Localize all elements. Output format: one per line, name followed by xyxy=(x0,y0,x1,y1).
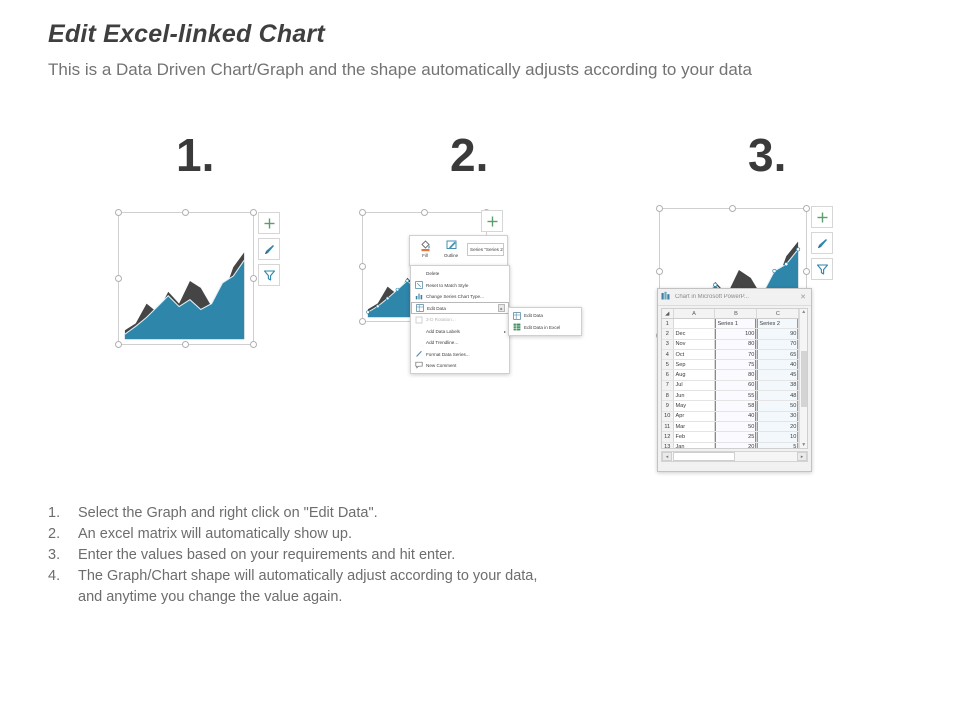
excel-corner-cell[interactable]: ◢ xyxy=(662,309,673,319)
excel-vertical-scrollbar[interactable]: ▲ ▼ xyxy=(799,309,807,448)
excel-cell-c[interactable]: 10 xyxy=(757,432,799,442)
menu-item-label: New Comment xyxy=(426,363,506,368)
table-row[interactable]: 1 Series 1 Series 2 xyxy=(662,319,799,329)
excel-window-title: Chart in Microsoft PowerP... xyxy=(675,294,798,300)
selection-handle-bottom-center[interactable] xyxy=(182,341,189,348)
instruction-text: Select the Graph and right click on "Edi… xyxy=(78,503,378,524)
table-row[interactable]: 7 Jul 60 38 xyxy=(662,380,799,390)
instruction-continuation: and anytime you change the value again. xyxy=(48,587,537,608)
submenu-item-label: Edit Data in Excel xyxy=(524,325,578,330)
excel-cell-b[interactable]: 100 xyxy=(715,329,757,339)
excel-cell-a[interactable]: Aug xyxy=(673,370,715,380)
rotation-icon xyxy=(414,315,423,324)
list-item: 2. An excel matrix will automatically sh… xyxy=(48,524,537,545)
outline-tool[interactable]: Outline xyxy=(439,238,463,259)
instruction-text: Enter the values based on your requireme… xyxy=(78,545,455,566)
series-selector-dropdown[interactable]: Series "Series 2" ▾ xyxy=(467,243,504,256)
menu-item-label: Add Trendline... xyxy=(426,340,506,345)
chart-styles-button[interactable] xyxy=(811,232,833,254)
instruction-text: An excel matrix will automatically show … xyxy=(78,524,352,545)
excel-cell-b[interactable]: 58 xyxy=(715,401,757,411)
chart-action-buttons-step3 xyxy=(811,206,833,280)
menu-item-label: Edit Data xyxy=(427,306,498,311)
step-number-2: 2. xyxy=(450,128,488,182)
chevron-right-icon: ▸ xyxy=(504,329,506,334)
excel-cell-a[interactable]: Apr xyxy=(673,411,715,421)
excel-cell-a[interactable]: Jan xyxy=(673,442,715,449)
excel-cell-c[interactable]: 90 xyxy=(757,329,799,339)
selection-handle-bottom-left[interactable] xyxy=(115,341,122,348)
list-item: 1. Select the Graph and right click on "… xyxy=(48,503,537,524)
table-row[interactable]: 9 May 58 50 xyxy=(662,401,799,411)
series-selector-value: Series "Series 2" xyxy=(470,247,504,252)
excel-cell-a[interactable]: Mar xyxy=(673,421,715,431)
excel-cell-a[interactable]: Oct xyxy=(673,349,715,359)
excel-cell-c[interactable]: 38 xyxy=(757,380,799,390)
excel-cell-c[interactable]: 70 xyxy=(757,339,799,349)
table-row[interactable]: 11 Mar 50 20 xyxy=(662,421,799,431)
excel-cell-c[interactable]: 30 xyxy=(757,411,799,421)
instruction-number: 1. xyxy=(48,503,78,524)
edit-data-icon xyxy=(512,311,521,320)
step-number-1: 1. xyxy=(176,128,214,182)
list-item: 4. The Graph/Chart shape will automatica… xyxy=(48,566,537,587)
excel-cell-a[interactable]: Jun xyxy=(673,391,715,401)
table-row[interactable]: 8 Jun 55 48 xyxy=(662,391,799,401)
table-row[interactable]: 6 Aug 80 45 xyxy=(662,370,799,380)
excel-cell-a[interactable] xyxy=(673,319,715,329)
excel-cell-c[interactable]: 40 xyxy=(757,360,799,370)
menu-item-label: 3-D Rotation... xyxy=(426,317,506,322)
chart-type-icon xyxy=(414,292,423,301)
excel-col-header-c[interactable]: C xyxy=(757,309,799,319)
excel-row-header[interactable]: 4 xyxy=(662,349,673,359)
chart-elements-button[interactable] xyxy=(811,206,833,228)
menu-item-delete[interactable]: Delete xyxy=(411,268,509,279)
selection-handle-bottom-left[interactable] xyxy=(359,318,366,325)
scroll-left-icon[interactable]: ◂ xyxy=(662,452,672,461)
excel-app-icon xyxy=(661,288,671,306)
menu-item-label: Change Series Chart Type... xyxy=(426,294,506,299)
menu-item-add-data-labels[interactable]: Add Data Labels ▸ xyxy=(411,326,509,337)
selection-handle-middle-left[interactable] xyxy=(656,268,663,275)
menu-item-format-data-series[interactable]: Format Data Series... xyxy=(411,348,509,359)
table-row[interactable]: 4 Oct 70 65 xyxy=(662,349,799,359)
plus-icon xyxy=(486,215,499,228)
excel-cell-b[interactable]: 55 xyxy=(715,391,757,401)
scrollbar-thumb[interactable] xyxy=(673,452,735,461)
table-row[interactable]: 13 Jan 20 5 xyxy=(662,442,799,449)
excel-cell-a[interactable]: Feb xyxy=(673,432,715,442)
menu-item-reset-to-match-style[interactable]: Reset to Match Style xyxy=(411,279,509,290)
excel-cell-b[interactable]: 70 xyxy=(715,349,757,359)
menu-item-add-trendline[interactable]: Add Trendline... xyxy=(411,337,509,348)
excel-cell-a[interactable]: Sep xyxy=(673,360,715,370)
chart-elements-button[interactable] xyxy=(258,212,280,234)
chart-filters-button[interactable] xyxy=(258,264,280,286)
menu-item-label: Reset to Match Style xyxy=(426,283,506,288)
chart-filters-button[interactable] xyxy=(811,258,833,280)
selection-handle-middle-right[interactable] xyxy=(250,275,257,282)
format-icon xyxy=(414,350,423,359)
none-icon xyxy=(414,269,423,278)
scroll-down-icon[interactable]: ▼ xyxy=(801,442,806,448)
excel-cell-b[interactable]: Series 1 xyxy=(715,319,757,329)
submenu-item-edit-data-in-excel[interactable]: Edit Data in Excel xyxy=(509,321,581,332)
excel-row-header[interactable]: 11 xyxy=(662,421,673,431)
selection-handle-top-left[interactable] xyxy=(656,205,663,212)
chevron-right-icon: ▸ xyxy=(498,304,505,312)
area-chart-step1 xyxy=(119,213,253,344)
excel-grid-container[interactable]: ◢ A B C 1 Series 1 Series 2 2 Dec 100 9 xyxy=(661,308,808,449)
outline-pen-icon xyxy=(439,238,463,253)
menu-item-label: Delete xyxy=(426,271,506,276)
comment-icon xyxy=(414,361,423,370)
selection-handle-top-right[interactable] xyxy=(250,209,257,216)
excel-row-header[interactable]: 1 xyxy=(662,319,673,329)
fill-tool-label: Fill xyxy=(413,253,437,259)
excel-titlebar[interactable]: Chart in Microsoft PowerP... ✕ xyxy=(658,289,811,306)
selection-handle-top-center[interactable] xyxy=(729,205,736,212)
excel-cell-b[interactable]: 60 xyxy=(715,380,757,390)
excel-datasheet-window[interactable]: Chart in Microsoft PowerP... ✕ ◢ A B C 1… xyxy=(657,288,812,472)
excel-row-header[interactable]: 5 xyxy=(662,360,673,370)
step-number-3: 3. xyxy=(748,128,786,182)
excel-row-header[interactable]: 9 xyxy=(662,401,673,411)
selection-handle-middle-left[interactable] xyxy=(115,275,122,282)
selection-handle-top-left[interactable] xyxy=(115,209,122,216)
excel-data-grid[interactable]: ◢ A B C 1 Series 1 Series 2 2 Dec 100 9 xyxy=(662,309,799,449)
instruction-number: 2. xyxy=(48,524,78,545)
menu-item-label: Add Data Labels xyxy=(426,329,504,334)
excel-row-header[interactable]: 3 xyxy=(662,339,673,349)
plus-icon xyxy=(816,211,829,224)
menu-item-edit-data[interactable]: Edit Data ▸ xyxy=(411,302,509,314)
mini-format-toolbar: Fill Outline Series "Series 2" ▾ xyxy=(409,235,508,266)
excel-cell-c[interactable]: 20 xyxy=(757,421,799,431)
instructions-list: 1. Select the Graph and right click on "… xyxy=(48,503,537,608)
excel-cell-c[interactable]: 48 xyxy=(757,391,799,401)
none-icon xyxy=(414,338,423,347)
funnel-icon xyxy=(263,269,276,282)
submenu-item-edit-data[interactable]: Edit Data xyxy=(509,310,581,321)
fill-bucket-icon xyxy=(413,238,437,253)
table-row[interactable]: 5 Sep 75 40 xyxy=(662,360,799,370)
fill-tool[interactable]: Fill xyxy=(413,238,437,259)
selection-handle-top-center[interactable] xyxy=(182,209,189,216)
selection-handle-top-left[interactable] xyxy=(359,209,366,216)
scroll-up-icon[interactable]: ▲ xyxy=(801,309,806,315)
chart-frame-step1[interactable] xyxy=(118,212,254,345)
instruction-text: The Graph/Chart shape will automatically… xyxy=(78,566,537,587)
menu-item-new-comment[interactable]: New Comment xyxy=(411,360,509,371)
edit-data-icon xyxy=(415,304,424,313)
submenu-item-label: Edit Data xyxy=(524,313,578,318)
excel-cell-b[interactable]: 80 xyxy=(715,339,757,349)
list-item: 3. Enter the values based on your requir… xyxy=(48,545,537,566)
excel-cell-c[interactable]: 50 xyxy=(757,401,799,411)
excel-cell-a[interactable]: Nov xyxy=(673,339,715,349)
table-row[interactable]: 10 Apr 40 30 xyxy=(662,411,799,421)
excel-horizontal-scrollbar[interactable]: ◂ ▸ xyxy=(661,451,808,462)
reset-icon xyxy=(414,281,423,290)
selection-handle-bottom-right[interactable] xyxy=(250,341,257,348)
outline-tool-label: Outline xyxy=(439,253,463,259)
excel-row-header[interactable]: 7 xyxy=(662,380,673,390)
page-subtitle: This is a Data Driven Chart/Graph and th… xyxy=(48,60,752,80)
excel-row-header[interactable]: 8 xyxy=(662,391,673,401)
instruction-number: 3. xyxy=(48,545,78,566)
chart-action-buttons-step1 xyxy=(258,212,280,286)
table-row[interactable]: 3 Nov 80 70 xyxy=(662,339,799,349)
table-row[interactable]: 2 Dec 100 90 xyxy=(662,329,799,339)
excel-cell-b[interactable]: 20 xyxy=(715,442,757,449)
excel-row-header[interactable]: 10 xyxy=(662,411,673,421)
paintbrush-icon xyxy=(816,237,829,250)
excel-cell-c[interactable]: 45 xyxy=(757,370,799,380)
page-title: Edit Excel-linked Chart xyxy=(48,20,325,49)
selection-handle-middle-right[interactable] xyxy=(803,268,810,275)
excel-row-header[interactable]: 6 xyxy=(662,370,673,380)
menu-item-change-series-chart-type[interactable]: Change Series Chart Type... xyxy=(411,291,509,302)
scroll-right-icon[interactable]: ▸ xyxy=(797,452,807,461)
scrollbar-thumb[interactable] xyxy=(801,351,807,407)
chart-elements-button[interactable] xyxy=(481,210,503,232)
plus-icon xyxy=(263,217,276,230)
excel-cell-a[interactable]: Dec xyxy=(673,329,715,339)
selection-handle-middle-left[interactable] xyxy=(359,263,366,270)
excel-cell-c[interactable]: 65 xyxy=(757,349,799,359)
excel-icon xyxy=(512,323,521,332)
excel-col-header-a[interactable]: A xyxy=(673,309,715,319)
excel-cell-b[interactable]: 75 xyxy=(715,360,757,370)
paintbrush-icon xyxy=(263,243,276,256)
excel-row-header[interactable]: 12 xyxy=(662,432,673,442)
excel-cell-c[interactable]: 5 xyxy=(757,442,799,449)
context-menu: Delete Reset to Match Style Change Serie… xyxy=(410,265,510,374)
excel-row-header[interactable]: 13 xyxy=(662,442,673,449)
table-row[interactable]: 12 Feb 25 10 xyxy=(662,432,799,442)
none-icon xyxy=(414,327,423,336)
excel-row-header[interactable]: 2 xyxy=(662,329,673,339)
menu-item-3d-rotation: 3-D Rotation... xyxy=(411,314,509,325)
excel-cell-a[interactable]: May xyxy=(673,401,715,411)
excel-cell-b[interactable]: 25 xyxy=(715,432,757,442)
excel-col-header-b[interactable]: B xyxy=(715,309,757,319)
excel-cell-b[interactable]: 50 xyxy=(715,421,757,431)
chart-styles-button[interactable] xyxy=(258,238,280,260)
close-icon[interactable]: ✕ xyxy=(798,293,808,301)
excel-cell-b[interactable]: 80 xyxy=(715,370,757,380)
selection-handle-top-center[interactable] xyxy=(421,209,428,216)
excel-column-header-row: ◢ A B C xyxy=(662,309,799,319)
instruction-number: 4. xyxy=(48,566,78,587)
menu-item-label: Format Data Series... xyxy=(426,352,506,357)
funnel-icon xyxy=(816,263,829,276)
excel-cell-c[interactable]: Series 2 xyxy=(757,319,799,329)
edit-data-submenu: Edit Data Edit Data in Excel xyxy=(508,307,582,336)
excel-cell-b[interactable]: 40 xyxy=(715,411,757,421)
selection-handle-top-right[interactable] xyxy=(803,205,810,212)
excel-cell-a[interactable]: Jul xyxy=(673,380,715,390)
